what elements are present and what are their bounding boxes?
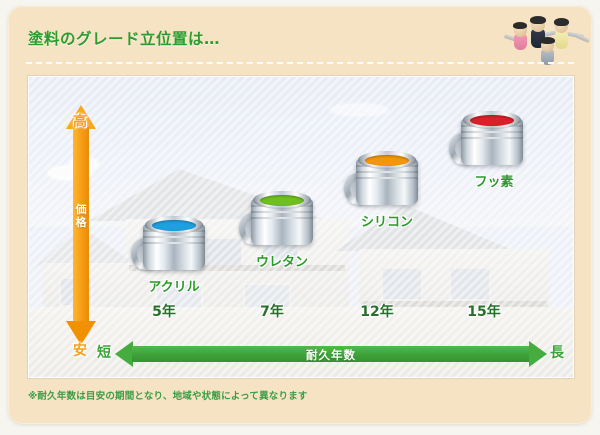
price-cheap-label: 安 — [73, 340, 87, 360]
paint-label-fluorine: フッ素 — [439, 171, 549, 190]
paint-label-acrylic: アクリル — [119, 276, 229, 295]
paint-can-fluorine — [461, 107, 523, 167]
paint-surface-acrylic — [152, 220, 196, 231]
paint-years-acrylic: 5年 — [124, 301, 204, 321]
paint-label-urethane: ウレタン — [227, 251, 337, 270]
paint-can-silicone — [356, 147, 418, 207]
price-axis-arrow: 価格 — [66, 105, 96, 345]
durability-axis-arrow: 耐久年数 — [115, 341, 547, 367]
price-axis-label: 価格 — [73, 203, 89, 229]
paint-years-urethane: 7年 — [232, 301, 312, 321]
paint-can-acrylic — [143, 212, 205, 272]
card-header: 塗料のグレード立位置は… — [8, 6, 592, 62]
price-high-label: 高 — [73, 111, 87, 131]
info-card: 塗料のグレード立位置は… — [8, 6, 592, 424]
footnote-text: ※耐久年数は目安の期間となり、地域や状態によって異なります — [28, 388, 308, 402]
paint-surface-silicone — [365, 155, 409, 166]
header-divider — [26, 62, 574, 64]
paint-years-silicone: 12年 — [337, 301, 417, 321]
chart-panel: 価格 高 安 耐久年数 短 長 アクリル — [28, 76, 574, 378]
paint-years-fluorine: 15年 — [444, 301, 524, 321]
paint-can-urethane — [251, 187, 313, 247]
paint-surface-urethane — [260, 195, 304, 206]
durability-axis-label: 耐久年数 — [115, 347, 547, 363]
paint-surface-fluorine — [470, 115, 514, 126]
paint-label-silicone: シリコン — [332, 211, 442, 230]
clay-family-illustration — [502, 8, 592, 66]
durability-long-label: 長 — [550, 342, 564, 362]
durability-short-label: 短 — [97, 342, 111, 362]
page-title: 塗料のグレード立位置は… — [28, 27, 220, 49]
